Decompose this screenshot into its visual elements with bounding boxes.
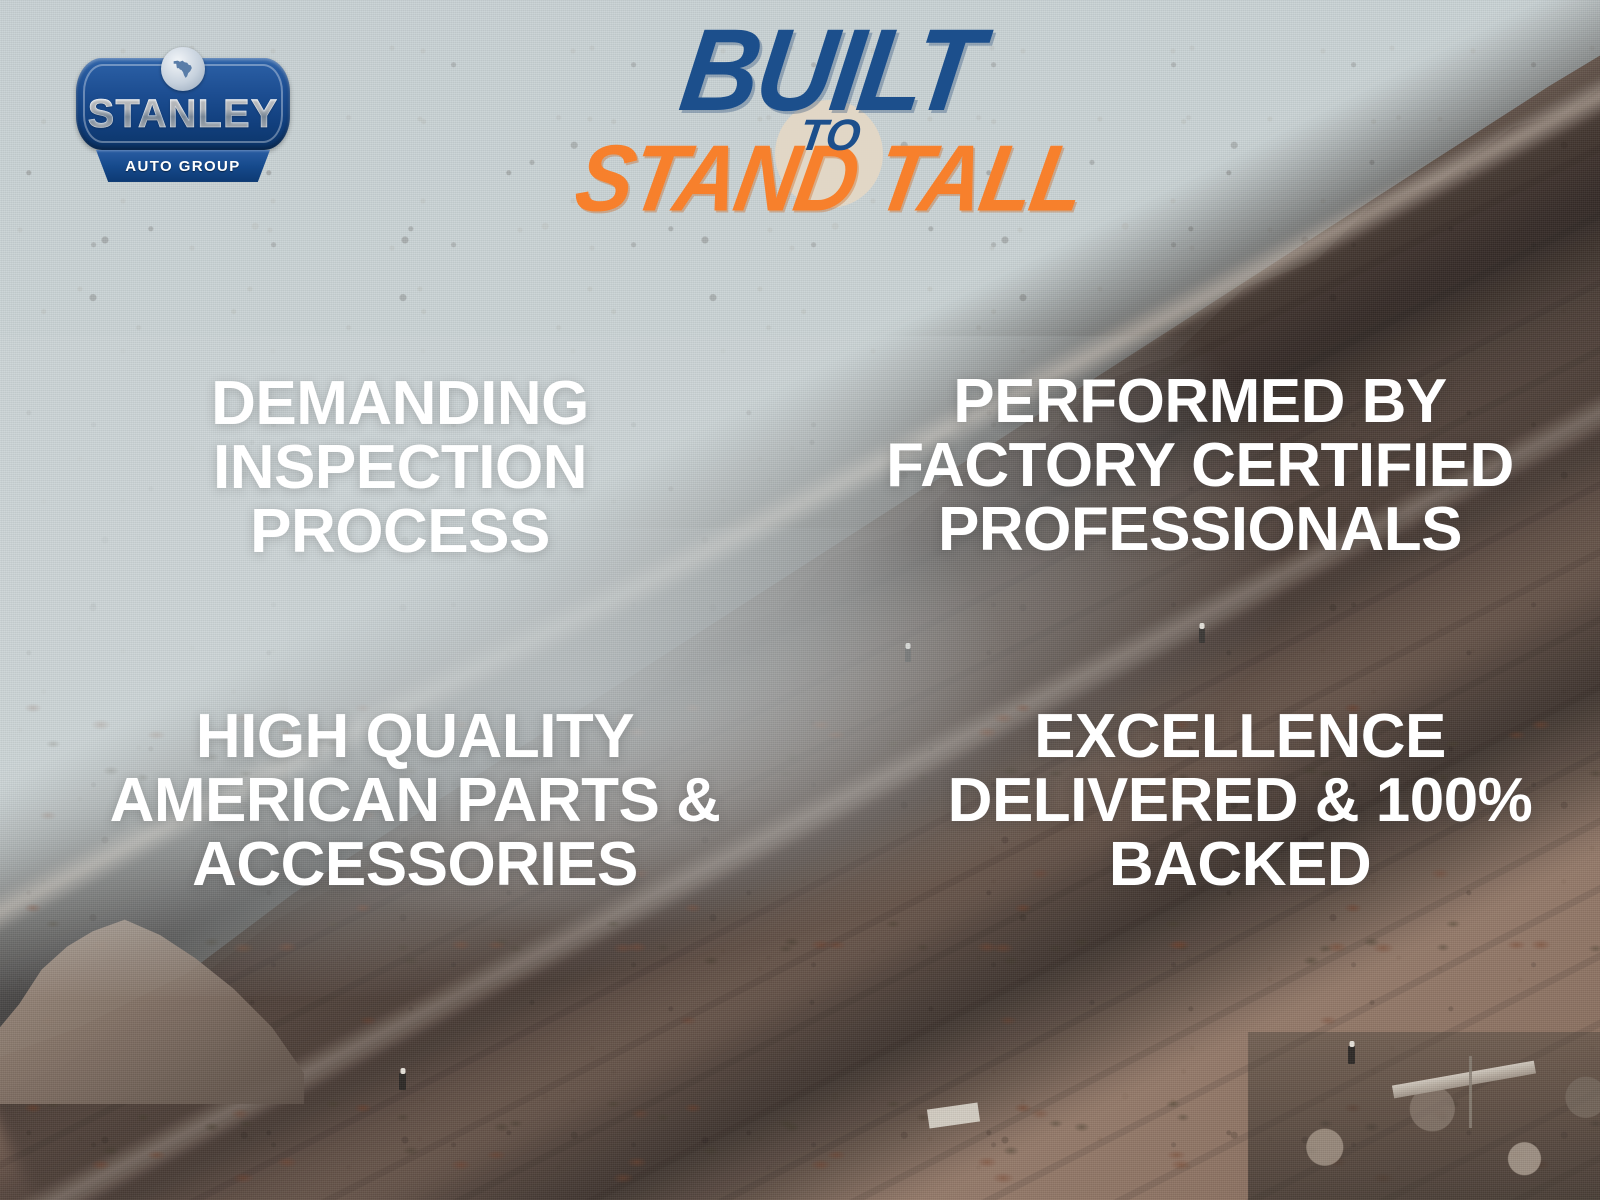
hiker-figure xyxy=(905,648,911,662)
hiker-figure xyxy=(399,1073,406,1090)
feature-headline-factory-certified: PERFORMED BY FACTORY CERTIFIED PROFESSIO… xyxy=(880,370,1520,562)
promo-poster: STANLEY AUTO GROUP BUILT STAND TALL TO D… xyxy=(0,0,1600,1200)
feature-headline-excellence: EXCELLENCE DELIVERED & 100% BACKED xyxy=(930,705,1550,897)
logo-wordmark: STANLEY xyxy=(68,92,298,137)
feature-headline-american-parts: HIGH QUALITY AMERICAN PARTS & ACCESSORIE… xyxy=(75,705,755,897)
hiker-figure xyxy=(1199,628,1205,643)
built-to-stand-tall-lockup[interactable]: BUILT STAND TALL TO xyxy=(560,14,1100,229)
utility-pole xyxy=(1469,1056,1472,1128)
texas-state-icon xyxy=(161,47,205,91)
logo-tagline: AUTO GROUP xyxy=(125,158,240,175)
stanley-auto-group-logo[interactable]: STANLEY AUTO GROUP xyxy=(68,46,298,181)
lockup-line-to: TO xyxy=(767,114,893,158)
hiker-figure xyxy=(1348,1046,1355,1064)
rock-rubble xyxy=(1248,1032,1600,1200)
logo-banner: AUTO GROUP xyxy=(96,150,270,182)
feature-headline-inspection: DEMANDING INSPECTION PROCESS xyxy=(140,372,660,564)
